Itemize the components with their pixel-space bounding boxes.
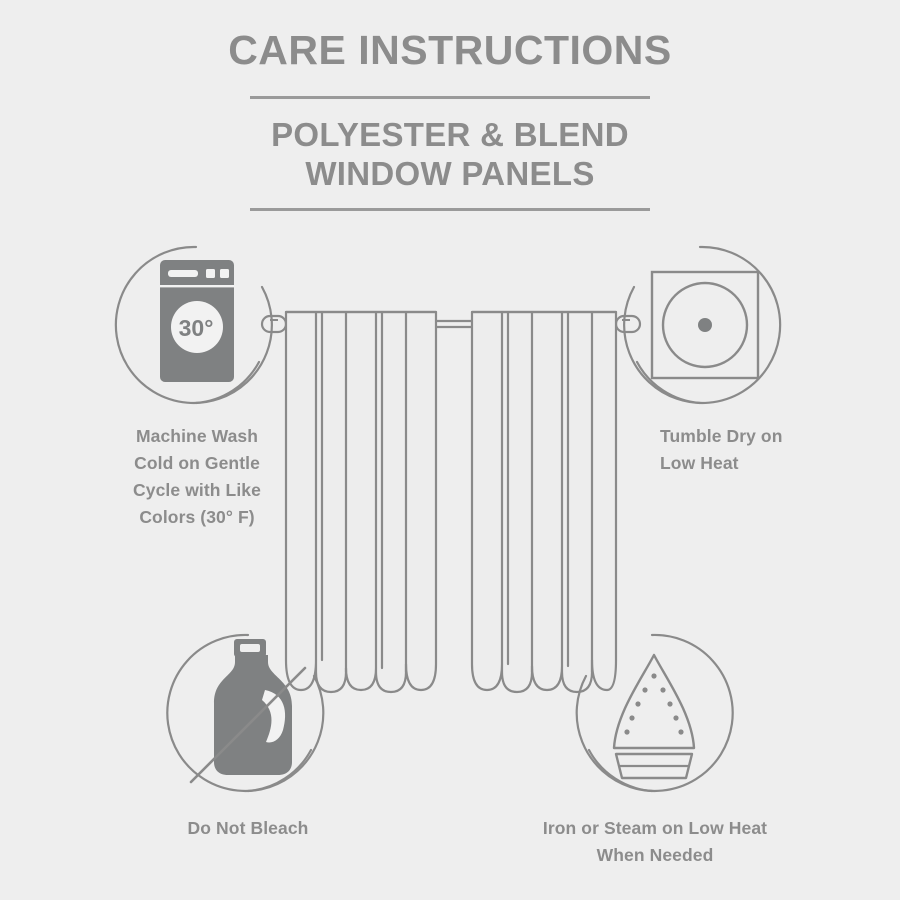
caption-line: When Needed <box>470 842 840 869</box>
iron-icon <box>614 655 694 778</box>
caption-line: Cycle with Like <box>42 477 352 504</box>
caption-do-not-bleach: Do Not Bleach <box>98 815 398 842</box>
caption-line: Machine Wash <box>42 423 352 450</box>
caption-line: Do Not Bleach <box>98 815 398 842</box>
symbol-machine-wash: 30° <box>116 247 272 403</box>
caption-line: Cold on Gentle <box>42 450 352 477</box>
rod-finial-left <box>262 316 286 332</box>
symbol-tumble-dry <box>624 247 780 403</box>
rod-finial-right <box>616 316 640 332</box>
caption-tumble-dry: Tumble Dry on Low Heat <box>660 423 900 477</box>
dryer-heat-dot <box>698 318 712 332</box>
caption-line: Iron or Steam on Low Heat <box>470 815 840 842</box>
iron-steam-holes <box>624 673 683 734</box>
caption-line: Low Heat <box>660 450 900 477</box>
right-curtain-panel <box>472 312 616 692</box>
caption-line: Colors (30° F) <box>42 504 352 531</box>
care-instructions-infographic: CARE INSTRUCTIONS POLYESTER & BLEND WIND… <box>0 0 900 900</box>
washing-machine-icon: 30° <box>160 260 234 382</box>
tumble-dry-low-icon <box>652 272 758 378</box>
wash-temp-label: 30° <box>179 315 214 341</box>
caption-machine-wash: Machine Wash Cold on Gentle Cycle with L… <box>42 423 352 532</box>
caption-iron: Iron or Steam on Low Heat When Needed <box>470 815 840 869</box>
caption-line: Tumble Dry on <box>660 423 900 450</box>
